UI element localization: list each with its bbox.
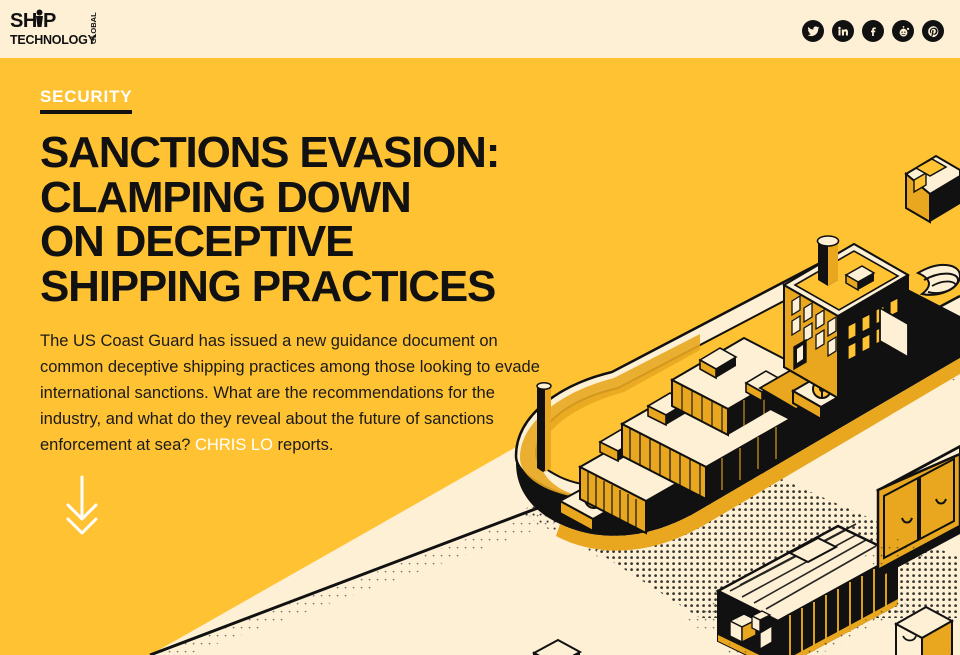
scroll-down-arrow-icon[interactable] xyxy=(62,475,102,537)
kicker-underline xyxy=(40,110,132,114)
hero-text-block: SECURITY SANCTIONS EVASION: CLAMPING DOW… xyxy=(40,88,560,459)
site-header: SH P TECHNOLOGY GLOBAL xyxy=(0,0,960,58)
pinterest-icon[interactable] xyxy=(922,20,944,42)
facebook-icon[interactable] xyxy=(862,20,884,42)
svg-text:TECHNOLOGY: TECHNOLOGY xyxy=(10,33,97,47)
category-kicker[interactable]: SECURITY xyxy=(40,88,132,114)
author-byline[interactable]: CHRIS LO xyxy=(195,436,273,454)
standfirst-text-after: reports. xyxy=(273,436,334,454)
svg-text:GLOBAL: GLOBAL xyxy=(89,12,98,44)
page-root: SH P TECHNOLOGY GLOBAL xyxy=(0,0,960,655)
linkedin-icon[interactable] xyxy=(832,20,854,42)
svg-text:SH: SH xyxy=(10,10,37,32)
kicker-label: SECURITY xyxy=(40,88,132,107)
funnel xyxy=(818,236,839,286)
svg-text:P: P xyxy=(43,10,56,32)
site-logo[interactable]: SH P TECHNOLOGY GLOBAL xyxy=(10,8,115,50)
social-links xyxy=(802,20,944,42)
standfirst: The US Coast Guard has issued a new guid… xyxy=(40,328,545,458)
page-title: SANCTIONS EVASION: CLAMPING DOWN ON DECE… xyxy=(40,131,560,311)
twitter-icon[interactable] xyxy=(802,20,824,42)
reddit-icon[interactable] xyxy=(892,20,914,42)
